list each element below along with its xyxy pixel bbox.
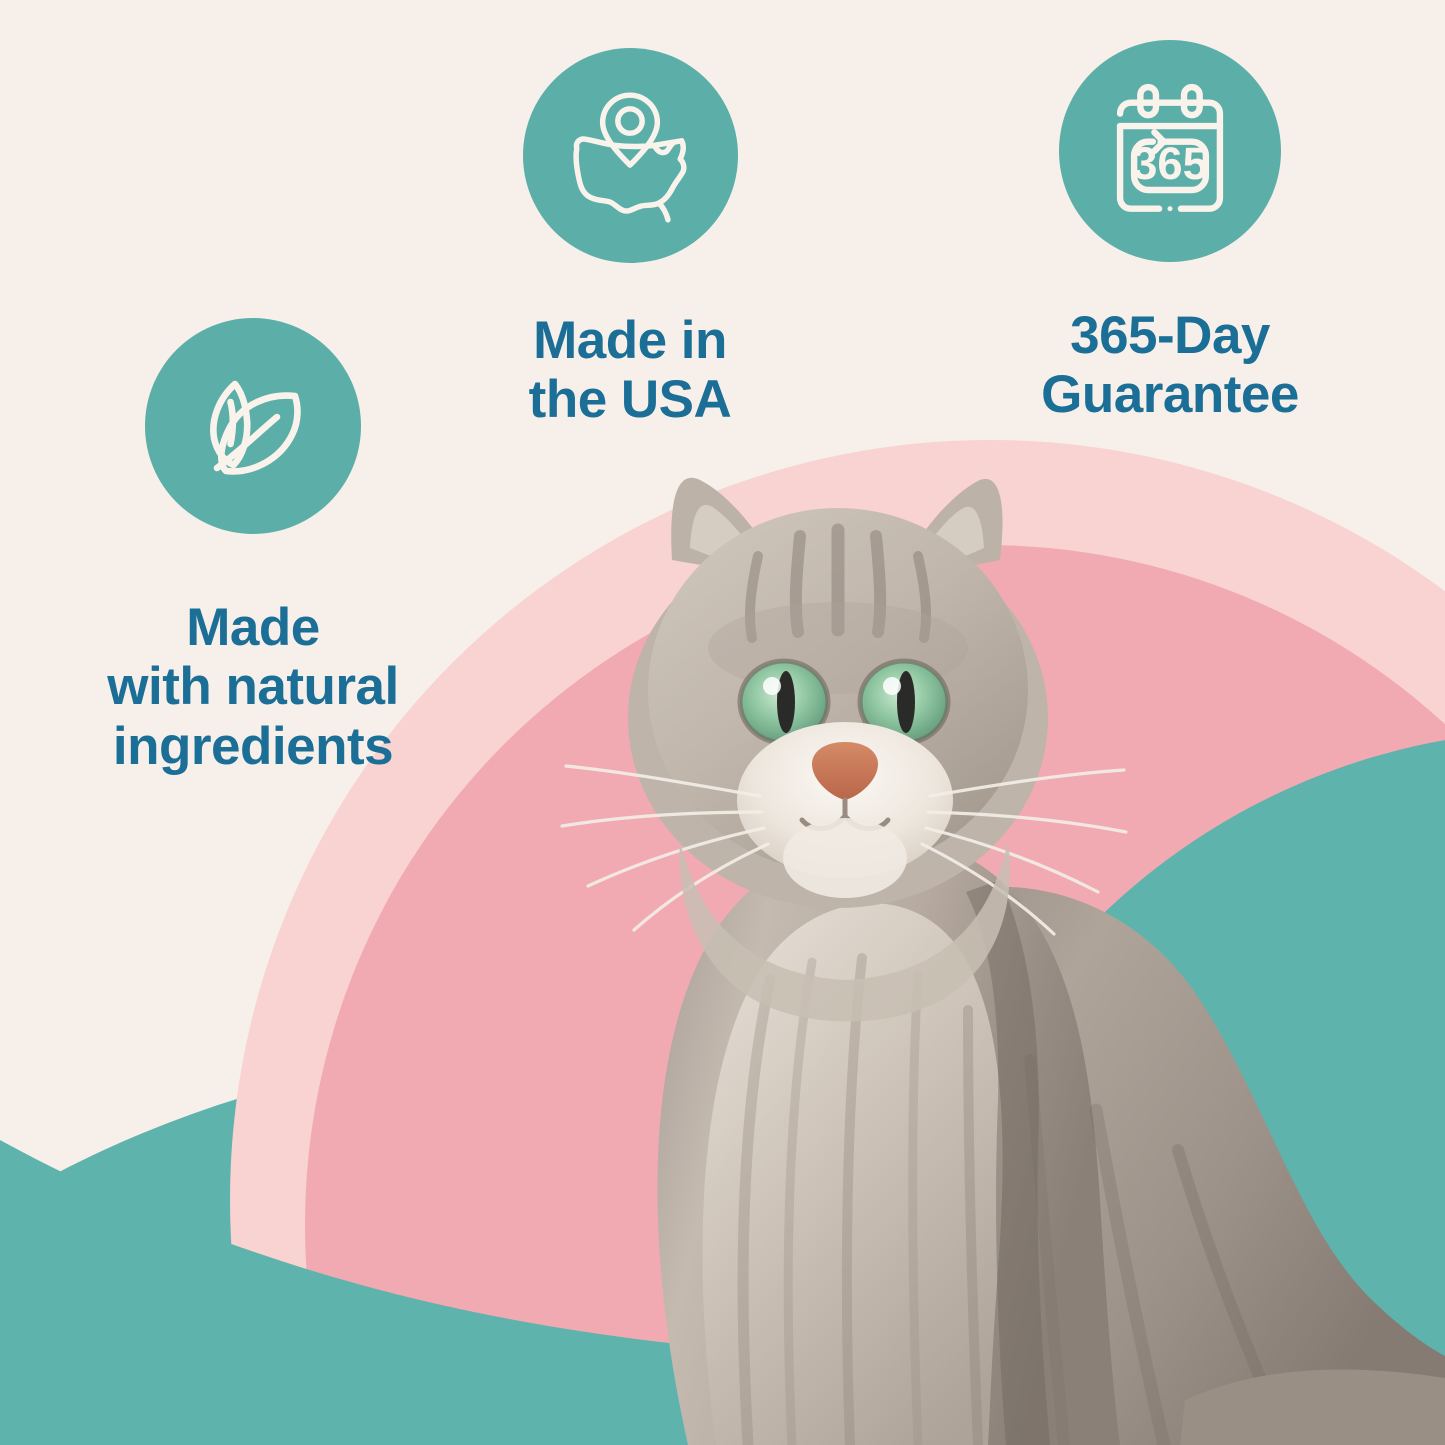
banner-stage: Made with natural ingredients xyxy=(0,0,1445,1445)
feature-guarantee-label: 365-Day Guarantee xyxy=(1041,306,1299,425)
feature-365-guarantee: 365 365-Day Guarantee xyxy=(940,40,1400,425)
feature-badges: Made with natural ingredients xyxy=(0,0,1445,1445)
calendar-365-number: 365 xyxy=(1132,138,1207,189)
usa-map-pin-icon-circle xyxy=(523,48,738,263)
calendar-365-icon-circle: 365 xyxy=(1059,40,1281,262)
leaf-icon xyxy=(178,351,328,501)
feature-made-in-usa: Made in the USA xyxy=(400,48,860,430)
calendar-365-icon: 365 xyxy=(1092,73,1248,229)
leaf-icon-circle xyxy=(145,318,361,534)
feature-natural-label: Made with natural ingredients xyxy=(107,598,398,776)
usa-map-pin-icon xyxy=(554,80,706,232)
feature-usa-label: Made in the USA xyxy=(529,311,732,430)
